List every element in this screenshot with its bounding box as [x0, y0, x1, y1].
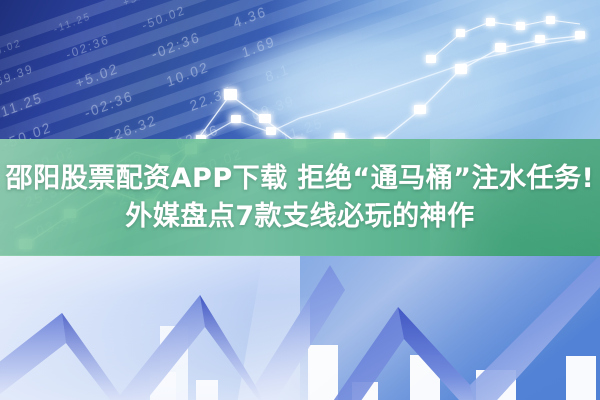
stock-banner: -02:36 -50.02 -11.25 +5.02 21.09 -11.25 … — [0, 0, 600, 400]
title-line-2: 外媒盘点7款支线必玩的神作 — [125, 200, 474, 234]
chart-series-tertiary — [430, 20, 580, 60]
page-title: 邵阳股票配资APP下载 拒绝“通马桶”注水任务! 外媒盘点7款支线必玩的神作 — [0, 139, 600, 256]
title-line-1: 邵阳股票配资APP下载 拒绝“通马桶”注水任务! — [6, 162, 595, 196]
